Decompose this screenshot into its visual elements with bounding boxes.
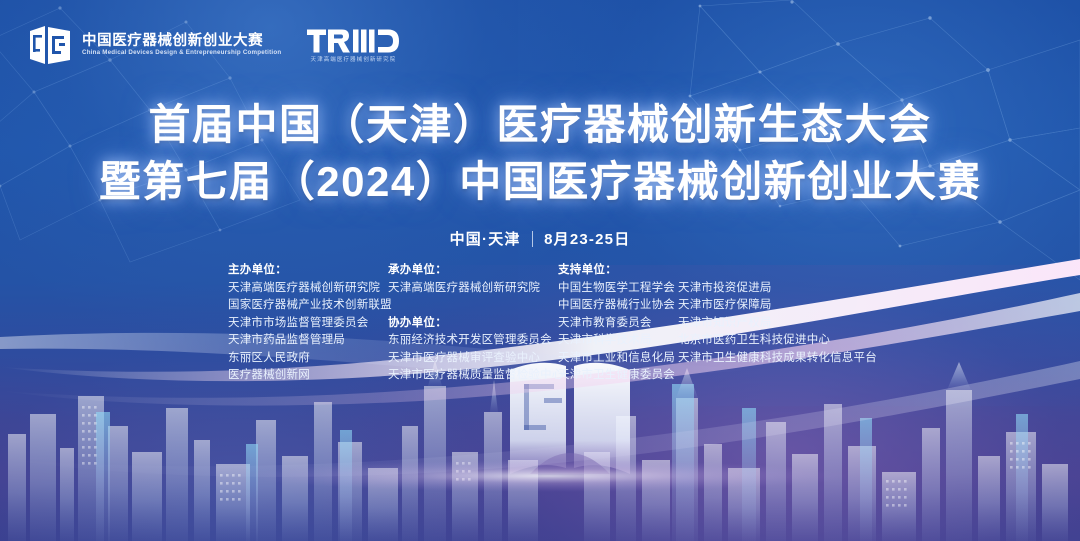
supporter-item: 中国生物医学工程学会 — [558, 280, 678, 298]
meta-divider — [532, 231, 534, 247]
supporter-item: 天津市医疗保障局 — [678, 297, 888, 315]
competition-logo: 中国医疗器械创新创业大赛 China Medical Devices Desig… — [28, 24, 281, 66]
organizer-item: 天津高端医疗器械创新研究院 — [228, 280, 388, 298]
supporters-sub-column-right: 天津市投资促进局 天津市医疗保障局 天津市知识产权局 北京市医药卫生科技促进中心… — [678, 262, 888, 385]
title-line-2: 暨第七届（2024）中国医疗器械创新创业大赛 — [0, 153, 1080, 210]
competition-title-en: China Medical Devices Design & Entrepren… — [82, 50, 281, 56]
supporter-item: 天津市工业和信息化局 — [558, 350, 678, 368]
supporter-item: 天津市投资促进局 — [678, 280, 888, 298]
supporters-heading: 支持单位： — [558, 262, 678, 280]
open-book-door-logo-mark-icon — [28, 24, 72, 66]
supporter-item: 天津市卫生健康科技成果转化信息平台 — [678, 350, 888, 368]
organizers-heading: 主办单位： — [228, 262, 388, 280]
organizer-item: 东丽区人民政府 — [228, 350, 388, 368]
institute-subtitle-cn: 天津高端医疗器械创新研究院 — [310, 58, 396, 64]
organizer-item: 医疗器械创新网 — [228, 367, 388, 385]
triid-wordmark-icon — [307, 27, 399, 55]
page-title: 首届中国（天津）医疗器械创新生态大会 暨第七届（2024）中国医疗器械创新创业大… — [0, 96, 1080, 210]
supporter-item: 北京市医药卫生科技促进中心 — [678, 332, 888, 350]
organizers-column-supporters: 支持单位： 中国生物医学工程学会 中国医疗器械行业协会 天津市教育委员会 天津市… — [558, 262, 888, 385]
group-spacer — [388, 297, 558, 315]
institute-logo: 天津高端医疗器械创新研究院 — [307, 27, 399, 64]
supporters-sub-column-left: 支持单位： 中国生物医学工程学会 中国医疗器械行业协会 天津市教育委员会 天津市… — [558, 262, 678, 385]
organizers-column-hosts: 主办单位： 天津高端医疗器械创新研究院 国家医疗器械产业技术创新联盟 天津市市场… — [228, 262, 388, 385]
coorganizer-heading: 协办单位： — [388, 315, 558, 333]
supporter-item: 天津市卫生健康委员会 — [558, 367, 678, 385]
supporter-item: 天津市教育委员会 — [558, 315, 678, 333]
competition-title-cn: 中国医疗器械创新创业大赛 — [82, 34, 281, 49]
undertaker-heading: 承办单位： — [388, 262, 558, 280]
event-location: 中国·天津 — [450, 228, 521, 249]
organizer-item: 国家医疗器械产业技术创新联盟 — [228, 297, 388, 315]
banner-header: 中国医疗器械创新创业大赛 China Medical Devices Desig… — [28, 24, 399, 66]
supporter-item: 中国医疗器械行业协会 — [558, 297, 678, 315]
supporter-item: 天津市科学技术局 — [558, 332, 678, 350]
title-line-1: 首届中国（天津）医疗器械创新生态大会 — [0, 96, 1080, 153]
undertaker-item: 天津高端医疗器械创新研究院 — [388, 280, 558, 298]
organizer-item: 天津市市场监督管理委员会 — [228, 315, 388, 333]
event-date: 8月23-25日 — [544, 228, 630, 249]
supporters-right-spacer — [678, 262, 888, 280]
supporter-item: 天津市知识产权局 — [678, 315, 888, 333]
conference-banner: 中国医疗器械创新创业大赛 China Medical Devices Desig… — [0, 0, 1080, 541]
coorganizer-item: 天津市医疗器械审评查验中心 — [388, 350, 558, 368]
organizers-column-undertakers: 承办单位： 天津高端医疗器械创新研究院 协办单位： 东丽经济技术开发区管理委员会… — [388, 262, 558, 385]
coorganizer-item: 天津市医疗器械质量监督检验中心 — [388, 367, 558, 385]
coorganizer-item: 东丽经济技术开发区管理委员会 — [388, 332, 558, 350]
organizer-item: 天津市药品监督管理局 — [228, 332, 388, 350]
event-meta: 中国·天津 8月23-25日 — [0, 228, 1080, 249]
organizers-block: 主办单位： 天津高端医疗器械创新研究院 国家医疗器械产业技术创新联盟 天津市市场… — [228, 262, 888, 385]
